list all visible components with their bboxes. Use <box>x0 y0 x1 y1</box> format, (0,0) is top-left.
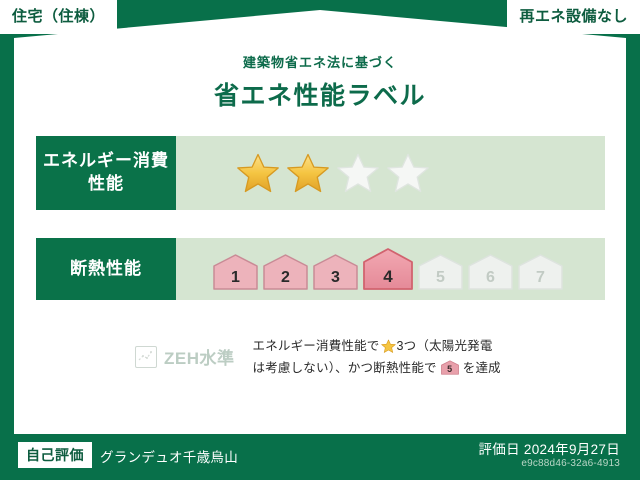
grade-badge-4-current: 4 <box>362 247 414 291</box>
grade-badge-number: 4 <box>383 267 392 291</box>
insulation-performance-row: 断熱性能 1 2 3 4 <box>36 238 605 300</box>
grade-badge-number: 5 <box>436 269 445 291</box>
star-icon-filled-2 <box>286 152 330 194</box>
star-icon-inline <box>381 339 396 354</box>
grade-badge-number: 2 <box>281 269 290 291</box>
grade-badge-inline-number: 5 <box>440 363 460 375</box>
grade-badge-number: 1 <box>231 269 240 291</box>
self-evaluation-badge: 自己評価 <box>18 442 92 468</box>
zeh-mark: ZEH水準 <box>135 344 235 369</box>
zeh-standard-note: ZEH水準 エネルギー消費性能で3つ（太陽光発電 は考慮しない）、かつ断熱性能で… <box>135 336 580 379</box>
zeh-desc-line2-b: を達成 <box>463 361 501 375</box>
title-subtitle: 建築物省エネ法に基づく <box>0 52 640 71</box>
evaluation-date: 評価日 2024年9月27日 <box>478 438 620 458</box>
insulation-grade-scale: 1 2 3 4 5 <box>176 238 605 300</box>
zeh-checkbox-icon <box>135 346 157 368</box>
zeh-desc-line1-b: 3つ（太陽光発電 <box>397 339 493 353</box>
housing-type-tag: 住宅（住棟） <box>0 0 117 34</box>
star-icon-empty-4 <box>386 152 430 194</box>
energy-star-rating <box>176 136 605 210</box>
energy-performance-row: エネルギー消費性能 <box>36 136 605 210</box>
grade-badge-number: 3 <box>331 269 340 291</box>
grade-badge-number: 6 <box>486 269 495 291</box>
evaluation-id: e9c88d46-32a6-4913 <box>521 458 620 469</box>
energy-performance-label: エネルギー消費性能 <box>36 136 176 210</box>
title-main: 省エネ性能ラベル <box>0 76 640 112</box>
zeh-desc-line1-a: エネルギー消費性能で <box>253 339 380 353</box>
grade-badge-2: 2 <box>262 253 309 291</box>
grade-badge-3: 3 <box>312 253 359 291</box>
star-icon-filled-1 <box>236 152 280 194</box>
label-footer: 自己評価 グランデュオ千歳烏山 評価日 2024年9月27日 e9c88d46-… <box>0 434 640 480</box>
insulation-performance-label: 断熱性能 <box>36 238 176 300</box>
building-name: グランデュオ千歳烏山 <box>100 446 238 466</box>
energy-performance-label: 住宅（住棟） 再エネ設備なし 建築物省エネ法に基づく 省エネ性能ラベル エネルギ… <box>0 0 640 480</box>
zeh-desc-line2-a: は考慮しない）、かつ断熱性能で <box>253 361 437 375</box>
grade-badge-6: 6 <box>467 253 514 291</box>
zeh-description: エネルギー消費性能で3つ（太陽光発電 は考慮しない）、かつ断熱性能で5を達成 <box>253 336 501 379</box>
grade-badge-list: 1 2 3 4 5 <box>212 247 567 291</box>
page-title: 建築物省エネ法に基づく 省エネ性能ラベル <box>0 52 640 112</box>
grade-badge-7: 7 <box>517 253 564 291</box>
renewable-equipment-tag: 再エネ設備なし <box>507 0 640 34</box>
star-icon-empty-3 <box>336 152 380 194</box>
grade-badge-icon-inline: 5 <box>440 360 460 375</box>
grade-badge-5: 5 <box>417 253 464 291</box>
grade-badge-number: 7 <box>536 269 545 291</box>
zeh-mark-label: ZEH水準 <box>164 344 235 369</box>
grade-badge-1: 1 <box>212 253 259 291</box>
